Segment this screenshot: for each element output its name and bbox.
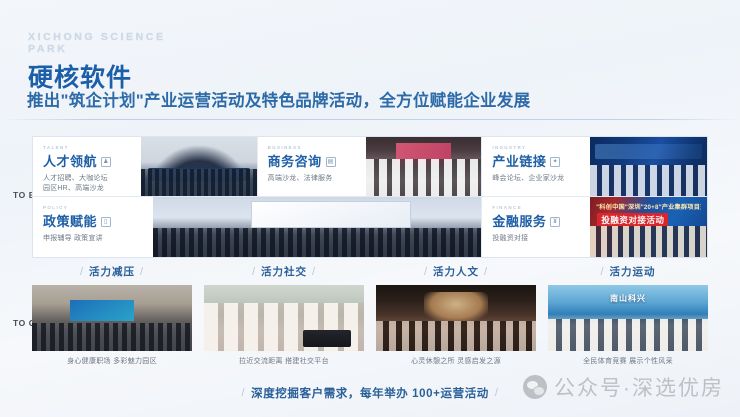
card-business-title: 商务咨询 ▤ <box>268 154 366 169</box>
toc-head-culture-text: 活力人文 <box>433 264 479 279</box>
card-industry[interactable]: INDUSTRY 产业链接 ✦ 峰会论坛、企业家沙龙 <box>482 137 707 197</box>
card-policy-desc: 申报辅导 政策宣讲 <box>43 234 153 244</box>
photo-talent-group <box>141 137 257 196</box>
toc-head-sports-text: 活力运动 <box>610 264 656 279</box>
card-industry-eyebrow: INDUSTRY <box>492 145 590 151</box>
to-c-headings: / 活力减压 / / 活力社交 / / 活力人文 / / 活力运动 <box>32 264 708 279</box>
photo-hanfu-performance-art <box>204 285 364 351</box>
photo-industry-forum <box>590 137 707 196</box>
card-talent-eyebrow: TALENT <box>43 145 141 151</box>
finance-banner-line2: 投融资对接活动 <box>597 213 668 227</box>
card-business-eyebrow: BUSINESS <box>268 145 366 151</box>
photo-policy-lecture <box>153 197 481 257</box>
photo-business-ceremony-art <box>366 137 482 196</box>
card-finance-eyebrow: FINANCE <box>492 205 590 211</box>
park-brand-watermark: XICHONG SCIENCE PARK <box>28 31 166 55</box>
toc-caption-social: 拉近交流距离 搭建社交平台 <box>204 356 364 366</box>
card-policy-title: 政策赋能 ▯ <box>43 214 153 229</box>
card-finance-title: 金融服务 ¥ <box>492 214 590 229</box>
card-talent-title-text: 人才领航 <box>43 154 97 169</box>
card-business[interactable]: BUSINESS 商务咨询 ▤ 高端沙龙、法律服务 <box>258 137 483 197</box>
toc-head-relax-text: 活力减压 <box>89 264 135 279</box>
card-industry-title: 产业链接 ✦ <box>492 154 590 169</box>
wechat-watermark-text: 公众号·深选优房 <box>554 372 724 402</box>
card-finance-text: FINANCE 金融服务 ¥ 投融资对接 <box>482 197 590 257</box>
slash-left-icon: / <box>241 387 245 399</box>
photo-finance-banner: "科创中国"深圳"20+8"产业集群项目对接服务 投融资对接活动 <box>590 197 707 257</box>
toc-card-sports[interactable]: 南山科兴 全民体育竞赛 展示个性风采 <box>548 285 708 366</box>
sports-banner-title: 南山科兴 <box>558 293 699 304</box>
toc-caption-sports: 全民体育竞赛 展示个性风采 <box>548 356 708 366</box>
card-business-title-text: 商务咨询 <box>268 154 322 169</box>
person-badge-icon: ♟ <box>101 157 111 167</box>
globe-icon: ✦ <box>550 157 560 167</box>
card-finance[interactable]: FINANCE 金融服务 ¥ 投融资对接 "科创中国"深圳"20+8"产业集群项… <box>482 197 707 257</box>
photo-plaza-event <box>32 285 192 351</box>
card-talent[interactable]: TALENT 人才领航 ♟ 人才招聘、大咖论坛 园区HR、高端沙龙 <box>33 137 258 197</box>
toc-head-culture: / 活力人文 / <box>376 264 536 279</box>
photo-sports-meet: 南山科兴 <box>548 285 708 351</box>
slash-left-icon: / <box>80 266 84 278</box>
footer-highlight-text: 深度挖掘客户需求，每年举办 100+运营活动 <box>251 385 489 401</box>
page-subtitle: 推出"筑企计划"产业运营活动及特色品牌活动，全方位赋能企业发展 <box>27 87 530 111</box>
toc-head-social: / 活力社交 / <box>204 264 364 279</box>
header-divider <box>0 119 740 120</box>
slash-right-icon: / <box>484 266 488 278</box>
card-industry-desc: 峰会论坛、企业家沙龙 <box>492 174 590 184</box>
photo-business-ceremony <box>366 137 482 196</box>
card-talent-title: 人才领航 ♟ <box>43 154 141 169</box>
toc-caption-culture: 心灵休憩之所 灵感启发之源 <box>376 356 536 366</box>
card-policy[interactable]: POLICY 政策赋能 ▯ 申报辅导 政策宣讲 <box>33 197 482 257</box>
card-finance-title-text: 金融服务 <box>492 214 546 229</box>
card-industry-text: INDUSTRY 产业链接 ✦ 峰会论坛、企业家沙龙 <box>482 137 590 196</box>
photo-plaza-event-art <box>32 285 192 351</box>
toc-head-sports: / 活力运动 <box>548 264 708 279</box>
to-c-photo-row: 身心健康职场 多彩魅力园区 拉近交流距离 搭建社交平台 心灵休憩之所 灵感启发之… <box>32 285 708 366</box>
toc-card-relax[interactable]: 身心健康职场 多彩魅力园区 <box>32 285 192 366</box>
to-b-card-grid: TALENT 人才领航 ♟ 人才招聘、大咖论坛 园区HR、高端沙龙 BUSINE… <box>32 136 708 258</box>
slash-left-icon: / <box>424 266 428 278</box>
page-header: XICHONG SCIENCE PARK 硬核软件 推出"筑企计划"产业运营活动… <box>0 0 740 120</box>
document-icon: ▯ <box>101 217 111 227</box>
card-policy-text: POLICY 政策赋能 ▯ 申报辅导 政策宣讲 <box>33 197 153 257</box>
slash-left-icon: / <box>252 266 256 278</box>
photo-sports-meet-art: 南山科兴 <box>548 285 708 351</box>
card-finance-desc: 投融资对接 <box>492 234 590 244</box>
photo-industry-forum-art <box>590 137 707 196</box>
card-business-desc: 高端沙龙、法律服务 <box>268 174 366 184</box>
photo-talent-group-art <box>141 137 257 196</box>
to-c-section: / 活力减压 / / 活力社交 / / 活力人文 / / 活力运动 身心健康职场… <box>32 264 708 366</box>
wechat-watermark: 公众号·深选优房 <box>523 372 724 402</box>
toc-card-culture[interactable]: 心灵休憩之所 灵感启发之源 <box>376 285 536 366</box>
toc-card-social[interactable]: 拉近交流距离 搭建社交平台 <box>204 285 364 366</box>
card-talent-text: TALENT 人才领航 ♟ 人才招聘、大咖论坛 园区HR、高端沙龙 <box>33 137 141 196</box>
photo-hanfu-performance <box>204 285 364 351</box>
briefcase-icon: ▤ <box>326 157 336 167</box>
toc-caption-relax: 身心健康职场 多彩魅力园区 <box>32 356 192 366</box>
card-policy-title-text: 政策赋能 <box>43 214 97 229</box>
card-business-text: BUSINESS 商务咨询 ▤ 高端沙龙、法律服务 <box>258 137 366 196</box>
card-policy-eyebrow: POLICY <box>43 205 153 211</box>
photo-policy-lecture-art <box>153 197 481 257</box>
card-industry-title-text: 产业链接 <box>492 154 546 169</box>
slash-left-icon: / <box>600 266 604 278</box>
slash-right-icon: / <box>312 266 316 278</box>
photo-courtyard-culture-art <box>376 285 536 351</box>
slash-right-icon: / <box>140 266 144 278</box>
wechat-icon <box>523 375 547 399</box>
card-talent-desc: 人才招聘、大咖论坛 园区HR、高端沙龙 <box>43 174 141 194</box>
finance-banner-line1: "科创中国"深圳"20+8"产业集群项目对接服务 <box>596 202 701 211</box>
toc-head-social-text: 活力社交 <box>261 264 307 279</box>
coin-icon: ¥ <box>550 217 560 227</box>
slash-right-icon: / <box>495 387 499 399</box>
toc-head-relax: / 活力减压 / <box>32 264 192 279</box>
photo-finance-banner-art: "科创中国"深圳"20+8"产业集群项目对接服务 投融资对接活动 <box>590 197 707 257</box>
photo-courtyard-culture <box>376 285 536 351</box>
